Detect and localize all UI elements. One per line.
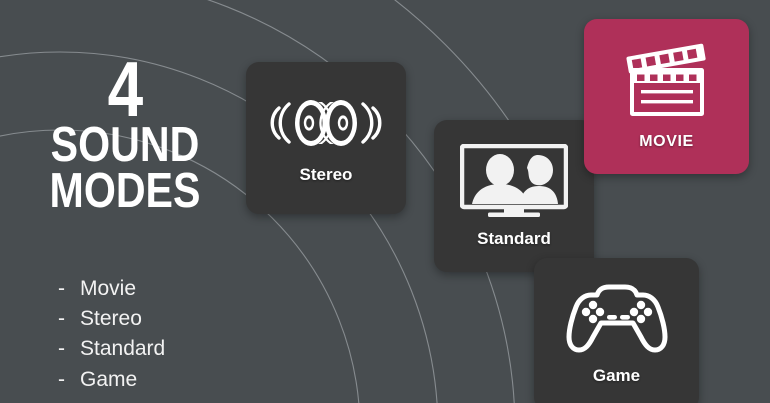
mode-count: 4 bbox=[23, 56, 228, 123]
list-item: -Standard bbox=[58, 334, 165, 364]
list-item: -Game bbox=[58, 365, 165, 395]
headline-line-1: SOUND bbox=[20, 123, 230, 167]
headline-block: 4 SOUND MODES bbox=[0, 56, 250, 213]
clapperboard-icon bbox=[618, 42, 716, 124]
stereo-icon-wrap bbox=[268, 92, 384, 154]
card-label-standard: Standard bbox=[477, 229, 551, 249]
card-label-movie: MOVIE bbox=[639, 133, 694, 151]
movie-icon-wrap bbox=[618, 42, 716, 124]
bullet-dash: - bbox=[58, 274, 80, 304]
game-icon-wrap bbox=[565, 283, 669, 355]
list-item: -Movie bbox=[58, 274, 165, 304]
mode-card-movie[interactable]: MOVIE bbox=[584, 19, 749, 174]
mode-list: -Movie -Stereo -Standard -Game bbox=[58, 274, 165, 395]
card-label-stereo: Stereo bbox=[300, 165, 353, 185]
stereo-speakers-icon bbox=[268, 92, 384, 154]
tv-two-people-icon bbox=[460, 144, 568, 218]
bullet-dash: - bbox=[58, 304, 80, 334]
mode-card-standard[interactable]: Standard bbox=[434, 120, 594, 272]
headline-line-2: MODES bbox=[20, 169, 230, 213]
bullet-dash: - bbox=[58, 334, 80, 364]
card-label-game: Game bbox=[593, 366, 640, 386]
mode-card-stereo[interactable]: Stereo bbox=[246, 62, 406, 214]
mode-list-label: Movie bbox=[80, 277, 136, 300]
mode-list-label: Stereo bbox=[80, 307, 142, 330]
mode-card-game[interactable]: Game bbox=[534, 258, 699, 403]
sound-modes-banner: 4 SOUND MODES -Movie -Stereo -Standard -… bbox=[0, 0, 770, 403]
standard-icon-wrap bbox=[460, 144, 568, 218]
mode-list-label: Standard bbox=[80, 337, 165, 360]
bullet-dash: - bbox=[58, 365, 80, 395]
mode-list-label: Game bbox=[80, 368, 137, 391]
list-item: -Stereo bbox=[58, 304, 165, 334]
gamepad-icon bbox=[565, 283, 669, 355]
